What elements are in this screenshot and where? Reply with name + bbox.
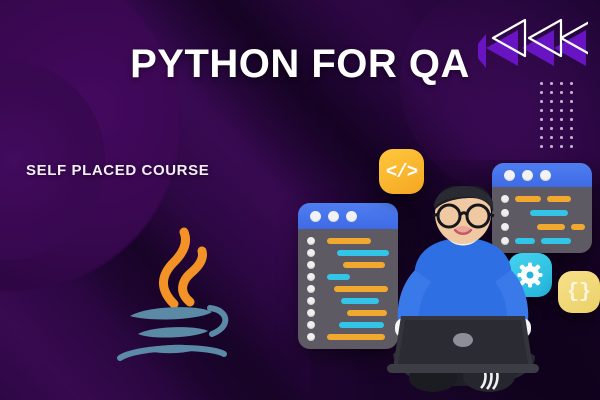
code-line	[307, 273, 388, 281]
window-dot	[346, 211, 357, 222]
page-subtitle: SELF PLACED COURSE	[26, 162, 209, 179]
code-bar	[339, 322, 384, 328]
code-bullet	[307, 261, 315, 269]
curly-braces-icon[interactable]: {}	[558, 271, 600, 313]
code-bullet	[307, 321, 315, 329]
character-head	[434, 186, 493, 244]
code-bullet	[307, 333, 315, 341]
code-bullet	[307, 297, 315, 305]
code-bar	[337, 250, 389, 256]
java-cup	[120, 307, 225, 358]
window-dot	[522, 170, 533, 181]
code-line	[307, 321, 388, 329]
code-bullet	[307, 273, 315, 281]
window-dot	[540, 170, 551, 181]
code-bar	[341, 298, 379, 304]
code-bullet	[307, 237, 315, 245]
java-steam	[163, 232, 202, 304]
code-line	[307, 285, 388, 293]
window-dot	[504, 170, 515, 181]
code-bar	[547, 196, 571, 202]
course-poster: PYTHON FOR QA SELF PLACED COURSE	[0, 0, 600, 400]
developer-with-laptop	[385, 186, 545, 400]
window-code-body	[298, 229, 398, 349]
window-dot	[310, 211, 321, 222]
java-logo	[112, 222, 242, 372]
dot-grid	[540, 82, 580, 154]
code-bullet	[307, 249, 315, 257]
window-dot	[328, 211, 339, 222]
code-bullet	[307, 309, 315, 317]
code-bar	[571, 224, 585, 230]
code-bar	[327, 238, 371, 244]
window-titlebar	[298, 203, 398, 229]
code-line	[307, 249, 388, 257]
page-title: PYTHON FOR QA	[0, 42, 600, 87]
code-bar	[334, 286, 388, 292]
code-bar	[343, 262, 385, 268]
code-bullet	[307, 285, 315, 293]
code-bar	[347, 310, 387, 316]
code-bar	[327, 334, 385, 340]
code-line	[307, 297, 388, 305]
laptop	[387, 316, 539, 373]
code-line	[307, 261, 388, 269]
code-line	[307, 333, 388, 341]
curly-braces-glyph: {}	[567, 281, 591, 304]
code-window-left[interactable]	[298, 203, 398, 349]
code-tag-glyph: </>	[386, 161, 417, 183]
code-bar	[541, 238, 571, 244]
code-line	[307, 309, 388, 317]
window-titlebar	[492, 163, 592, 187]
code-line	[307, 237, 388, 245]
code-bar	[327, 274, 350, 280]
